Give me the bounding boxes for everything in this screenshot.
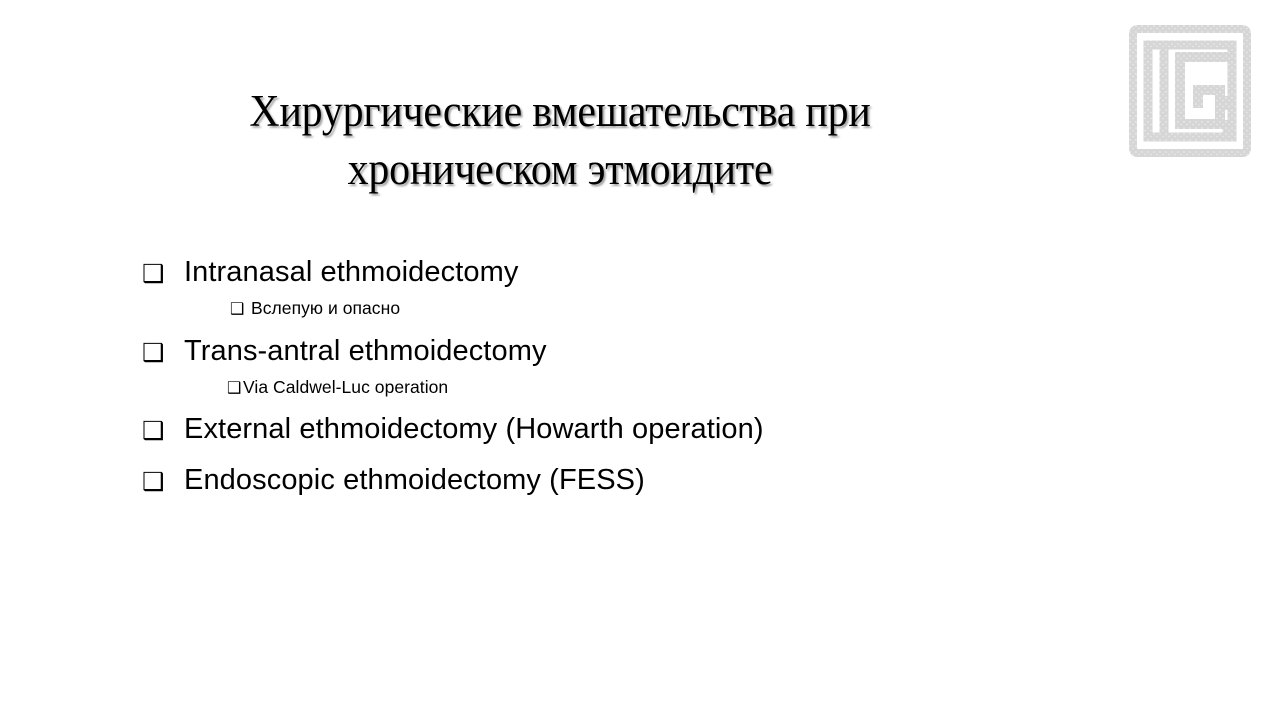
- slide-canvas: Хирургические вмешательства при хроничес…: [0, 0, 1280, 720]
- logo-spiral-path: [1180, 57, 1232, 124]
- list-item: ❑ Intranasal ethmoidectomy: [142, 258, 1142, 287]
- page-title: Хирургические вмешательства при хроничес…: [114, 83, 1007, 198]
- list-item: ❑ Via Caldwel-Luc operation: [227, 379, 1142, 397]
- list-item-label: Вслепую и опасно: [251, 300, 1142, 318]
- maze-logo: [1128, 24, 1252, 158]
- bullet-list: ❑ Intranasal ethmoidectomy ❑ Вслепую и о…: [142, 258, 1142, 517]
- list-item-label: Endoscopic ethmoidectomy (FESS): [184, 466, 1142, 495]
- square-bullet-icon: ❑: [142, 339, 184, 366]
- list-item: ❑ External ethmoidectomy (Howarth operat…: [142, 415, 1142, 444]
- square-bullet-icon: ❑: [142, 260, 184, 287]
- list-item-label: Intranasal ethmoidectomy: [184, 258, 1142, 287]
- list-item-label: Via Caldwel-Luc operation: [243, 379, 1142, 397]
- square-bullet-icon: ❑: [227, 380, 243, 397]
- list-item: ❑ Вслепую и опасно: [230, 300, 1142, 318]
- list-item: ❑ Endoscopic ethmoidectomy (FESS): [142, 466, 1142, 495]
- square-bullet-icon: ❑: [142, 417, 184, 444]
- maze-logo-svg: [1128, 24, 1252, 158]
- list-item: ❑ Trans-antral ethmoidectomy: [142, 337, 1142, 366]
- list-item-label: External ethmoidectomy (Howarth operatio…: [184, 415, 1142, 444]
- square-bullet-icon: ❑: [142, 468, 184, 495]
- square-bullet-icon: ❑: [230, 301, 251, 318]
- list-item-label: Trans-antral ethmoidectomy: [184, 337, 1142, 366]
